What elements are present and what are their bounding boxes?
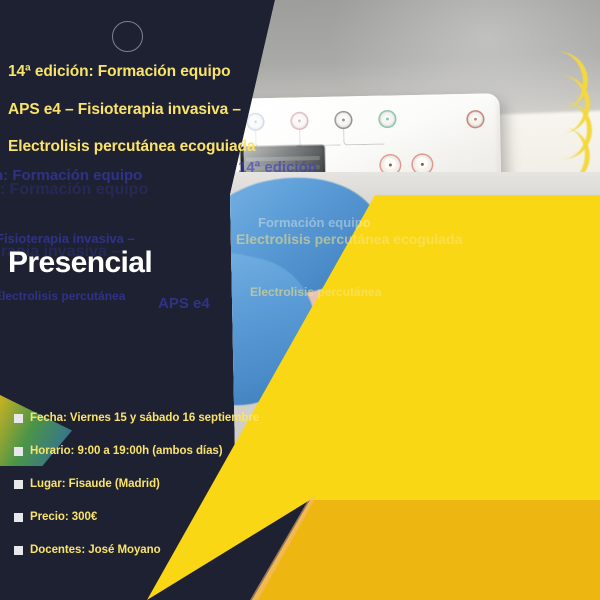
list-item: Horario: 9:00 a 19:00h (ambos días) <box>14 445 314 457</box>
title-block: 14ª edición: Formación equipo APS e4 – F… <box>8 64 298 177</box>
bullet-square-icon <box>14 480 23 489</box>
detail-horario: Horario: 9:00 a 19:00h (ambos días) <box>30 445 223 457</box>
device-wire-2 <box>299 129 340 147</box>
circle-outline-icon <box>112 21 143 52</box>
modality-label: Presencial <box>8 248 152 278</box>
ghost-text-4: Fisioterapia invasiva – <box>0 232 135 245</box>
title-line-1: 14ª edición: Formación equipo <box>8 64 298 80</box>
mode-knob-right <box>468 112 483 127</box>
device-wire-3 <box>343 128 384 146</box>
details-list: Fecha: Viernes 15 y sábado 16 septiembre… <box>14 412 314 577</box>
detail-lugar: Lugar: Fisaude (Madrid) <box>30 478 160 490</box>
bullet-square-icon <box>14 447 23 456</box>
detail-docentes: Docentes: José Moyano <box>30 544 161 556</box>
title-line-2: APS e4 – Fisioterapia invasiva – <box>8 102 298 118</box>
bullet-square-icon <box>14 513 23 522</box>
bullet-square-icon <box>14 414 23 423</box>
title-line-3: Electrolisis percutánea ecoguiada <box>8 139 298 155</box>
list-item: Docentes: José Moyano <box>14 544 314 556</box>
detail-fecha: Fecha: Viernes 15 y sábado 16 septiembre <box>30 412 259 424</box>
list-item: Fecha: Viernes 15 y sábado 16 septiembre <box>14 412 314 424</box>
bullet-square-icon <box>14 546 23 555</box>
poster-canvas: APS®e4 n: Formación equipo n: Formación … <box>0 0 600 600</box>
channel-knob-gray <box>336 112 351 127</box>
list-item: Precio: 300€ <box>14 511 314 523</box>
ghost-text-2: n: Formación equipo <box>0 182 148 198</box>
channel-knob-green <box>380 111 395 126</box>
ghost-text-6: Electrolisis percutánea <box>0 290 125 302</box>
list-item: Lugar: Fisaude (Madrid) <box>14 478 314 490</box>
detail-precio: Precio: 300€ <box>30 511 97 523</box>
ghost-text-7: APS e4 <box>158 296 210 311</box>
